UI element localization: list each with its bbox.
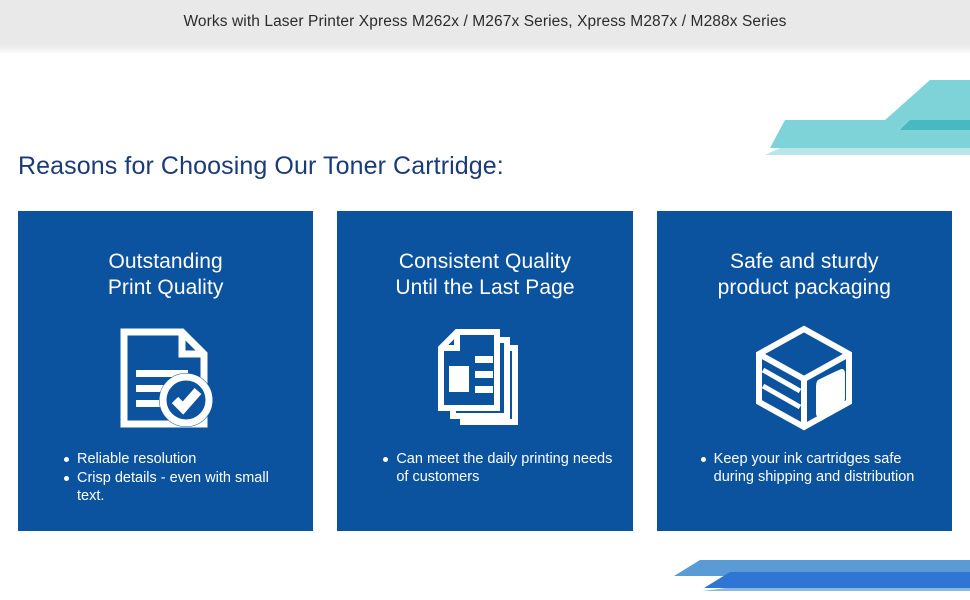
benefit-card-title: Outstanding Print Quality <box>98 249 234 302</box>
document-check-icon <box>114 320 218 436</box>
benefit-card-consistent-quality: Consistent Quality Until the Last Page C… <box>337 211 632 531</box>
page-title: Reasons for Choosing Our Toner Cartridge… <box>18 152 504 181</box>
benefit-card-title: Safe and sturdy product packaging <box>708 249 901 302</box>
list-item: Crisp details - even with small text. <box>64 469 295 506</box>
benefit-bullet-list: Can meet the daily printing needs of cus… <box>337 450 632 488</box>
benefit-card-print-quality: Outstanding Print Quality Reliable resol… <box>18 211 313 531</box>
compatibility-banner: Works with Laser Printer Xpress M262x / … <box>0 0 970 44</box>
benefit-card-packaging: Safe and sturdy product packaging Keep y… <box>657 211 952 531</box>
teal-parallelogram-decoration <box>745 80 970 198</box>
compatibility-banner-text: Works with Laser Printer Xpress M262x / … <box>183 13 786 31</box>
list-item: Reliable resolution <box>64 450 295 468</box>
benefit-bullet-list: Keep your ink cartridges safe during shi… <box>657 450 952 488</box>
banner-gradient-fade <box>0 44 970 54</box>
blue-parallelogram-decoration <box>660 550 970 600</box>
package-box-icon <box>750 320 858 436</box>
list-item: Keep your ink cartridges safe during shi… <box>701 450 934 487</box>
list-item: Can meet the daily printing needs of cus… <box>383 450 614 487</box>
benefit-bullet-list: Reliable resolution Crisp details - even… <box>18 450 313 507</box>
benefit-card-title: Consistent Quality Until the Last Page <box>385 249 584 302</box>
benefits-card-row: Outstanding Print Quality Reliable resol… <box>18 211 952 531</box>
stacked-documents-icon <box>433 320 537 436</box>
